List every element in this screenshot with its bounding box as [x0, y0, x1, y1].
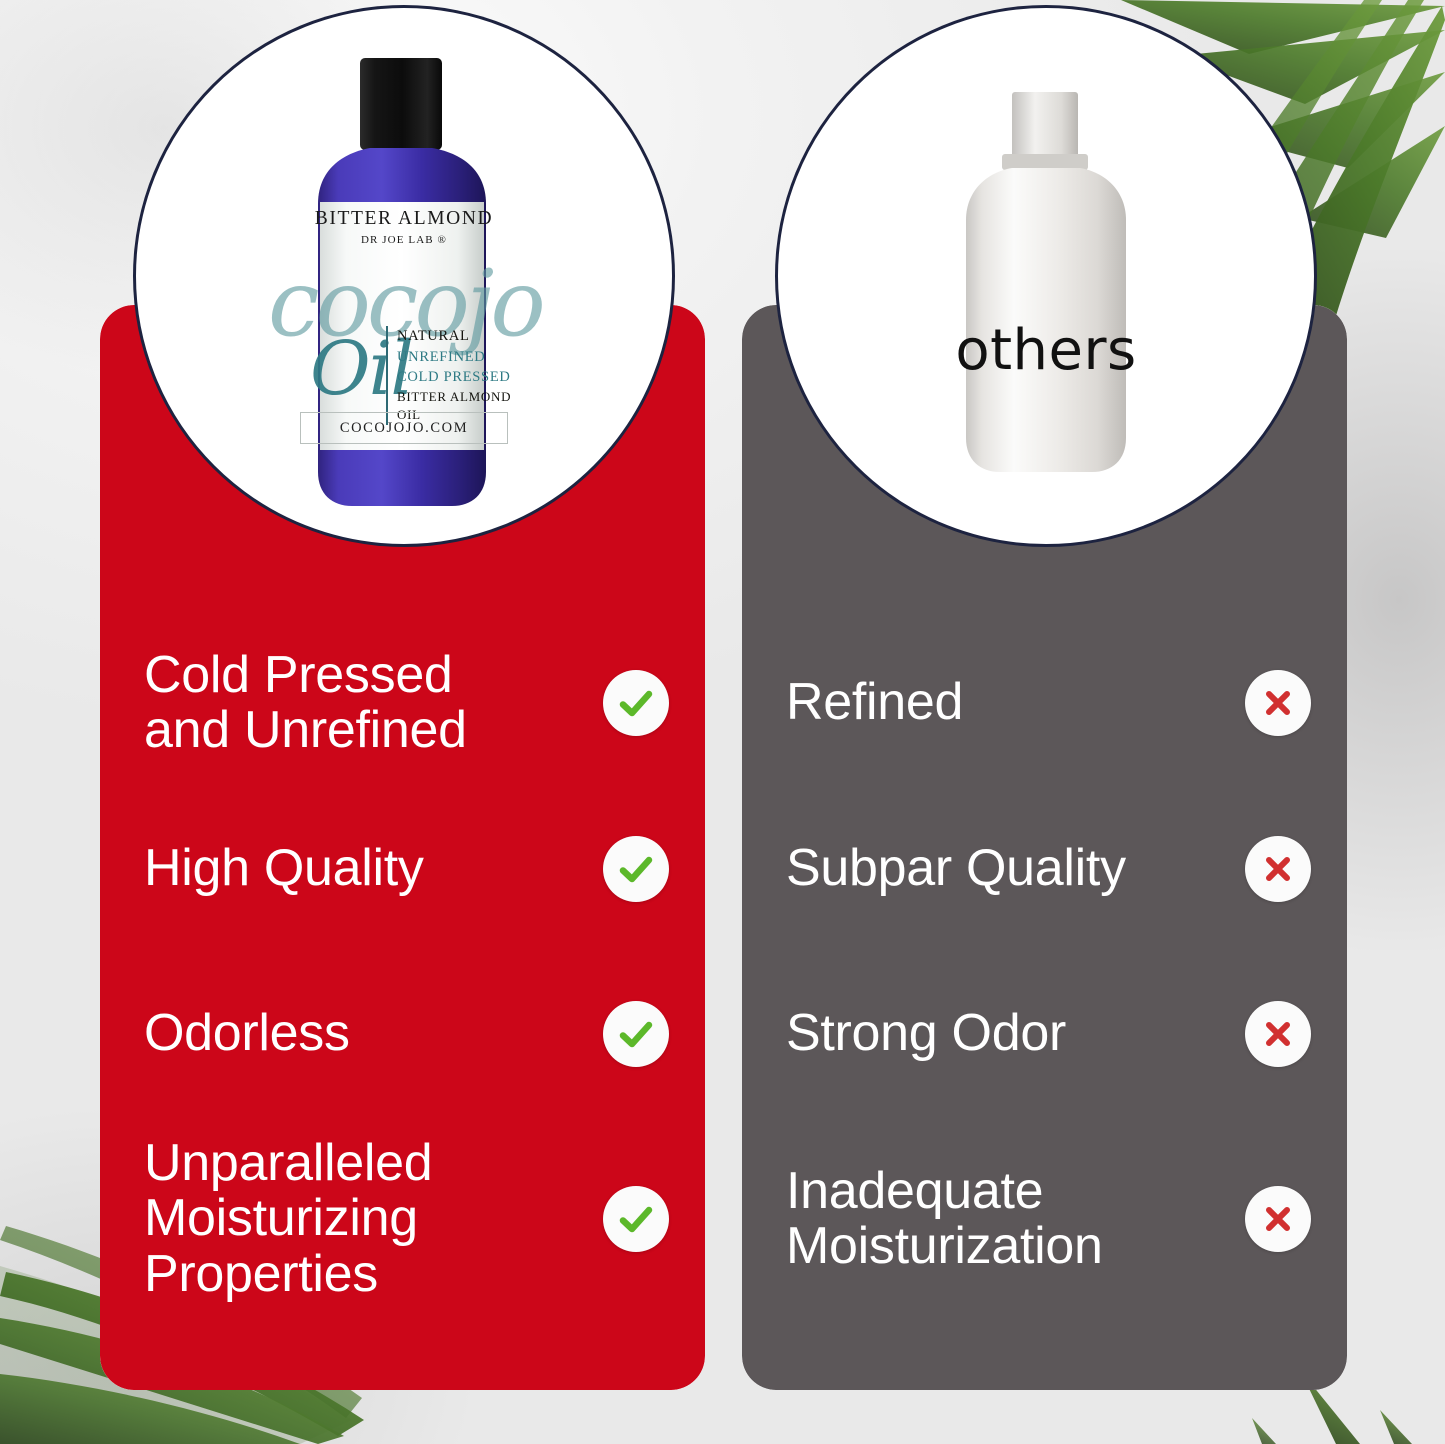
- check-icon: [603, 670, 669, 736]
- feature-label: Unparalleled Moisturizing Properties: [144, 1136, 432, 1301]
- check-icon: [603, 1001, 669, 1067]
- cocojojo-feature-list: Cold Pressed and Unrefined High Quality …: [100, 623, 705, 1332]
- bottle-brand-name: BITTER ALMOND: [274, 208, 534, 230]
- table-row[interactable]: Cold Pressed and Unrefined: [106, 623, 699, 783]
- feature-label: Odorless: [144, 1006, 350, 1061]
- bottle-spec-item: UNREFINED: [397, 347, 534, 368]
- bottle-website: COCOJOJO.COM: [274, 420, 534, 437]
- feature-label: Subpar Quality: [786, 841, 1126, 896]
- comparison-infographic: Cold Pressed and Unrefined High Quality …: [0, 0, 1445, 1444]
- bottle-spec-item: NATURAL: [397, 326, 534, 347]
- others-bottle-label: others: [955, 318, 1136, 383]
- table-row[interactable]: Subpar Quality: [748, 790, 1341, 948]
- others-product-image: others: [790, 20, 1302, 532]
- check-icon: [603, 836, 669, 902]
- feature-label: High Quality: [144, 841, 424, 896]
- feature-label: Inadequate Moisturization: [786, 1164, 1103, 1274]
- table-row[interactable]: Strong Odor: [748, 955, 1341, 1113]
- cross-icon: [1245, 670, 1311, 736]
- check-icon: [603, 1186, 669, 1252]
- generic-bottle-illustration: [926, 86, 1166, 496]
- table-row[interactable]: Inadequate Moisturization: [748, 1120, 1341, 1318]
- table-row[interactable]: Odorless: [106, 955, 699, 1113]
- cross-icon: [1245, 1186, 1311, 1252]
- cross-icon: [1245, 836, 1311, 902]
- bottle-brand-sub: DR JOE LAB ®: [274, 234, 534, 246]
- table-row[interactable]: Unparalleled Moisturizing Properties: [106, 1120, 699, 1318]
- cocojojo-product-circle: BITTER ALMOND DR JOE LAB ® cocojo Oil NA…: [136, 8, 672, 544]
- others-product-circle: others: [778, 8, 1314, 544]
- feature-label: Strong Odor: [786, 1006, 1066, 1061]
- cocojojo-product-image: BITTER ALMOND DR JOE LAB ® cocojo Oil NA…: [148, 20, 660, 532]
- bottle-spec-item: COLD PRESSED: [397, 367, 534, 388]
- cross-icon: [1245, 1001, 1311, 1067]
- table-row[interactable]: High Quality: [106, 790, 699, 948]
- table-row[interactable]: Refined: [748, 623, 1341, 783]
- bottle-spec-list: NATURAL UNREFINED COLD PRESSED BITTER AL…: [386, 326, 534, 425]
- feature-label: Cold Pressed and Unrefined: [144, 648, 467, 758]
- others-feature-list: Refined Subpar Quality Strong Odor: [742, 623, 1347, 1332]
- feature-label: Refined: [786, 675, 963, 730]
